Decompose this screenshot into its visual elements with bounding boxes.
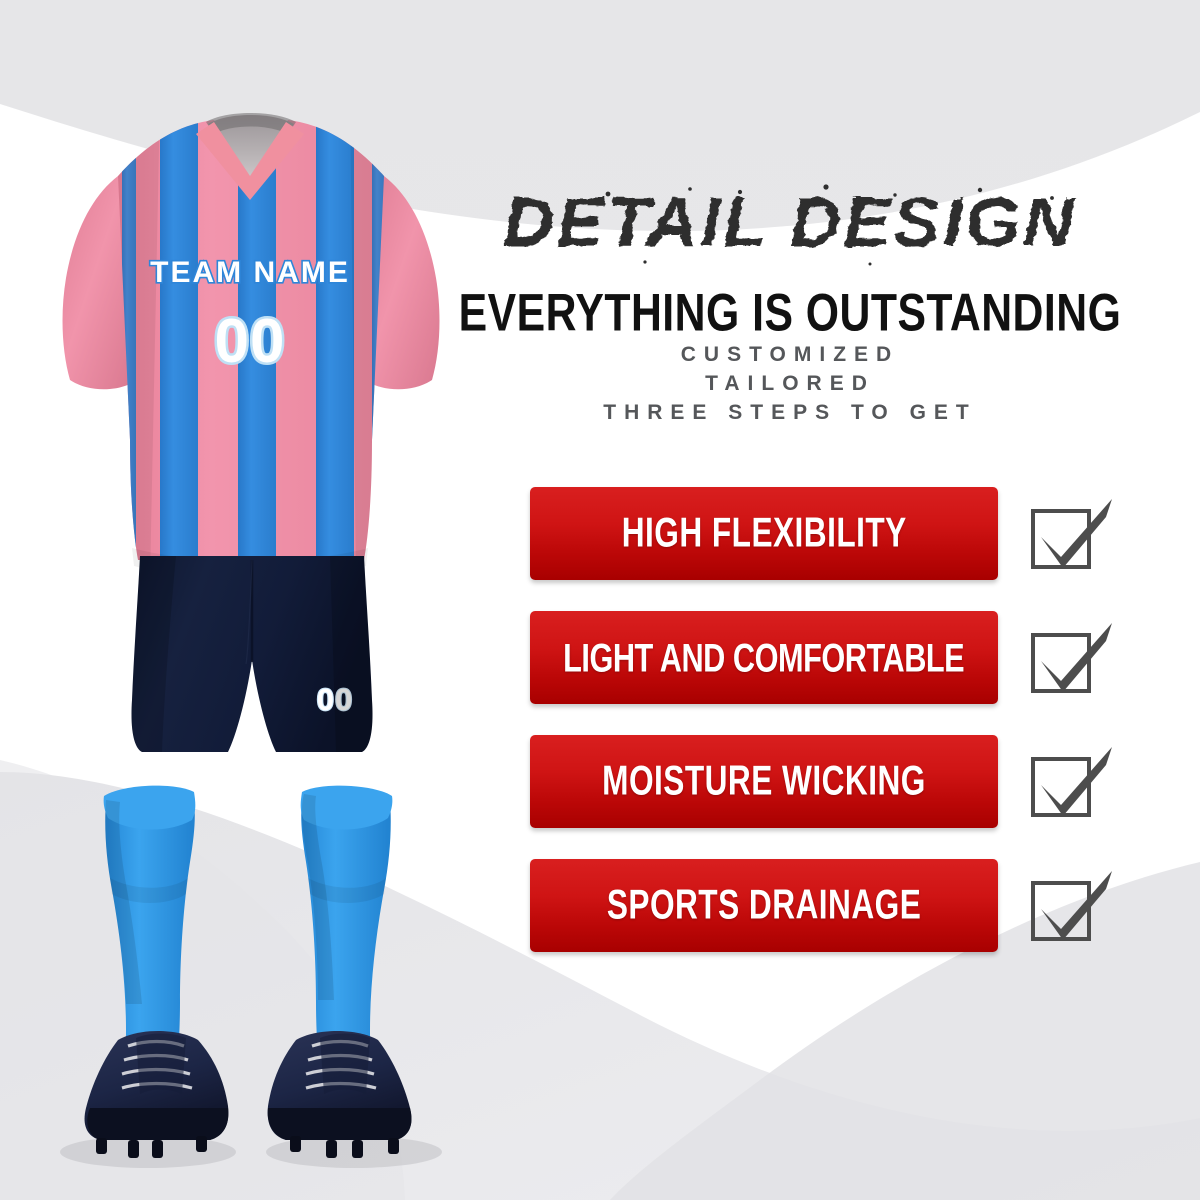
- jersey-team-name: TEAM NAME: [150, 256, 350, 289]
- checkbox-checked-icon: [1028, 737, 1116, 825]
- feature-row: SPORTS DRAINAGE: [530, 859, 1180, 952]
- feature-banner-sports-drainage[interactable]: SPORTS DRAINAGE: [530, 859, 998, 952]
- tagline-line-2: TAILORED: [440, 369, 1140, 398]
- page-title: DETAIL DESIGN: [440, 178, 1140, 270]
- feature-banner-high-flexibility[interactable]: HIGH FLEXIBILITY: [530, 487, 998, 580]
- tagline-line-3: THREE STEPS TO GET: [440, 398, 1140, 427]
- feature-row: MOISTURE WICKING: [530, 735, 1180, 828]
- right-cleat: [268, 1031, 412, 1158]
- content-column: DETAIL DESIGN EVERYTHING IS OUTSTANDING …: [440, 0, 1200, 1200]
- checkbox-checked-icon: [1028, 861, 1116, 949]
- tagline-line-1: CUSTOMIZED: [440, 340, 1140, 369]
- feature-row: LIGHT AND COMFORTABLE: [530, 611, 1180, 704]
- checkbox-checked-icon: [1028, 489, 1116, 577]
- jersey-number: 00: [215, 307, 286, 376]
- tagline-block: CUSTOMIZED TAILORED THREE STEPS TO GET: [440, 340, 1140, 427]
- page-title-text: DETAIL DESIGN: [503, 183, 1076, 261]
- feature-row: HIGH FLEXIBILITY: [530, 487, 1180, 580]
- feature-label: MOISTURE WICKING: [602, 758, 926, 806]
- product-illustration: TEAM NAME 00 00: [0, 0, 500, 1200]
- left-cleat: [85, 1031, 229, 1158]
- feature-banner-moisture-wicking[interactable]: MOISTURE WICKING: [530, 735, 998, 828]
- feature-label: HIGH FLEXIBILITY: [621, 510, 906, 558]
- page-subtitle: EVERYTHING IS OUTSTANDING: [458, 282, 1123, 343]
- checkbox-checked-icon: [1028, 613, 1116, 701]
- product-marketing-banner: TEAM NAME 00 00: [0, 0, 1200, 1200]
- feature-label: SPORTS DRAINAGE: [607, 882, 921, 930]
- feature-list: HIGH FLEXIBILITY LIGHT AND COMFORTABLE: [530, 487, 1180, 983]
- feature-banner-light-and-comfortable[interactable]: LIGHT AND COMFORTABLE: [530, 611, 998, 704]
- feature-label: LIGHT AND COMFORTABLE: [563, 634, 964, 680]
